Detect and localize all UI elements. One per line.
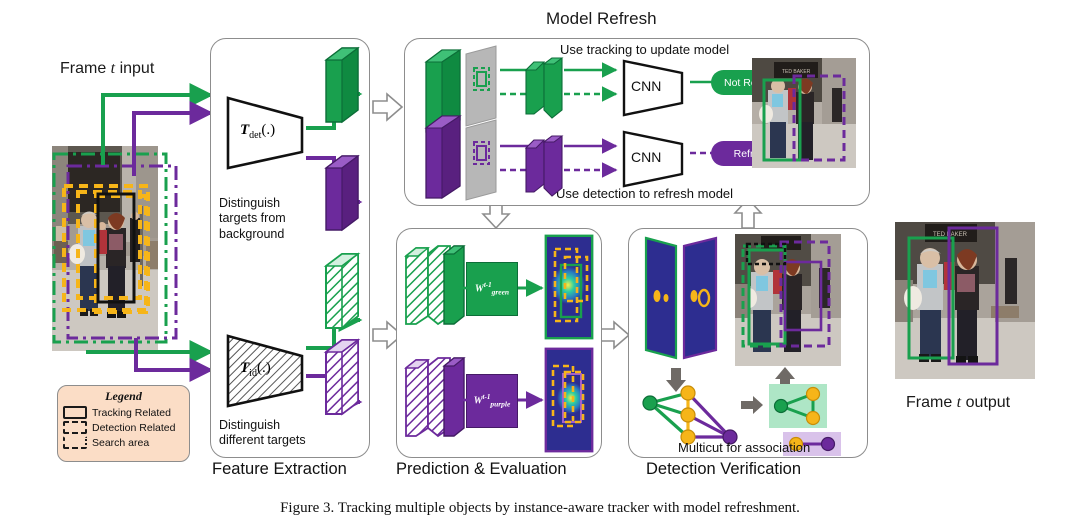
legend-label-search: Search area: [92, 437, 149, 449]
section-title-feature-extraction: Feature Extraction: [212, 460, 347, 479]
section-title-detection-verification: Detection Verification: [646, 460, 801, 479]
block-arrow-pe-to-dv: [599, 320, 631, 350]
note-bg-line1: Distinguish: [219, 196, 286, 211]
t-det-sub: det: [249, 130, 261, 141]
block-arrow-fe-to-mr: [372, 92, 404, 122]
note-bg-line3: background: [219, 227, 286, 242]
note-bg-line2: targets from: [219, 211, 286, 226]
cluster-green-graph: [769, 384, 827, 428]
cnn-label-bottom: CNN: [631, 149, 661, 165]
legend-label-tracking: Tracking Related: [92, 407, 171, 419]
output-frame-boxes: [895, 222, 1035, 379]
t-det-args: (.): [261, 122, 275, 138]
solid-rect-icon: [63, 406, 87, 419]
t-id-label: Tid(.): [240, 360, 271, 379]
frame-input-label-pre: Frame: [60, 60, 111, 77]
arrow-right-to-clusters: [740, 395, 764, 415]
feature-blocks-extraction: [322, 40, 364, 430]
t-id-sub: id: [249, 368, 257, 379]
frame-output-label-post: output: [961, 394, 1010, 411]
dashdot-rect-icon: [63, 436, 87, 449]
note-multicut: Multicut for association: [678, 440, 810, 456]
note-tg-line1: Distinguish: [219, 418, 306, 433]
t-id-args: (.): [257, 360, 271, 376]
model-refresh-small-blocks: [524, 52, 572, 202]
section-title-prediction-evaluation: Prediction & Evaluation: [396, 460, 567, 479]
frame-output-label-pre: Frame: [906, 394, 957, 411]
model-refresh-title: Model Refresh: [546, 9, 657, 29]
note-distinguish-targets: Distinguish different targets: [219, 418, 306, 449]
figure-3-diagram: Model Refresh Frame t input: [0, 0, 1080, 529]
dashed-rect-icon: [63, 421, 87, 434]
t-det-base: T: [240, 122, 249, 138]
note-tg-line2: different targets: [219, 433, 306, 448]
frame-input-label-post: input: [115, 60, 154, 77]
legend-item-detection: Detection Related: [58, 421, 189, 434]
frame-output-label: Frame t output: [906, 394, 1010, 412]
t-id-base: T: [240, 360, 249, 376]
verification-feature-planes: [640, 234, 722, 364]
legend-label-detection: Detection Related: [92, 422, 175, 434]
model-refresh-result-boxes: [752, 58, 856, 168]
figure-caption: Figure 3. Tracking multiple objects by i…: [0, 500, 1080, 517]
multicut-graph: [636, 385, 742, 447]
note-distinguish-background: Distinguish targets from background: [219, 196, 286, 242]
heatmap-purple: [545, 348, 593, 452]
frame-input-label: Frame t input: [60, 60, 154, 78]
legend-title: Legend: [58, 386, 189, 404]
verification-frame-boxes: [735, 234, 841, 366]
legend-item-tracking: Tracking Related: [58, 406, 189, 419]
legend-box: Legend Tracking Related Detection Relate…: [57, 385, 190, 462]
legend-item-search: Search area: [58, 436, 189, 449]
heatmap-green: [545, 235, 593, 339]
t-det-label: Tdet(.): [240, 122, 275, 141]
cnn-label-top: CNN: [631, 78, 661, 94]
